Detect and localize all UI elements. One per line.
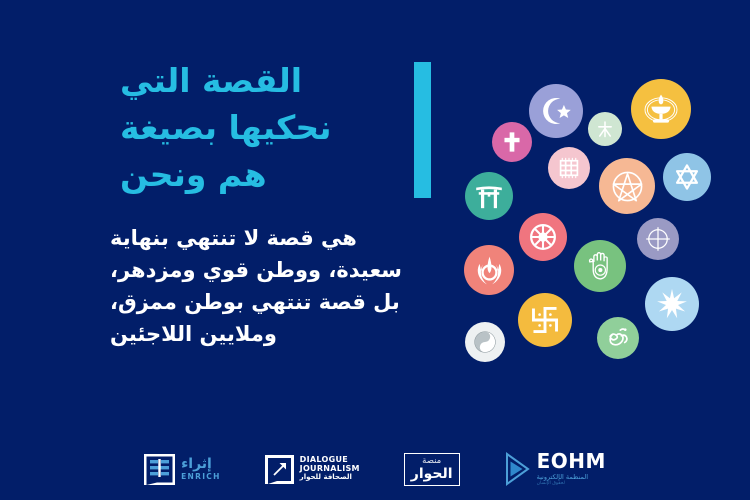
enrich-logo-english: ENRICH xyxy=(181,473,221,481)
enrich-logo: إثراء ENRICH xyxy=(144,449,221,489)
hiwar-platform-logo: منصة الحوار xyxy=(404,449,460,489)
enrich-book-icon xyxy=(144,454,175,485)
dialogue-journalism-text: DIALOGUE JOURNALISM الصحافة للحوار xyxy=(300,456,360,482)
dialogue-journalism-arrow-icon xyxy=(265,455,294,484)
eohm-logo-text: EOHM المنظمة الإلكترونية لحقوق الإنسان xyxy=(537,451,606,486)
om-icon xyxy=(597,317,639,359)
eohm-logo: EOHM المنظمة الإلكترونية لحقوق الإنسان xyxy=(504,449,606,489)
headline-block: القصة التي نحكيها بصيغة هم ونحن xyxy=(120,58,450,199)
eohm-triangle-icon xyxy=(504,452,531,486)
headline-line-2: نحكيها بصيغة xyxy=(120,105,450,152)
dialogue-journalism-line2: JOURNALISM xyxy=(300,465,360,474)
star-and-crescent-icon xyxy=(529,84,583,138)
eohm-logo-arabic-sub: لحقوق الإنسان xyxy=(537,482,565,487)
celtic-cross-icon xyxy=(637,218,679,260)
headline-line-1: القصة التي xyxy=(120,58,450,105)
dialogue-journalism-logo: DIALOGUE JOURNALISM الصحافة للحوار xyxy=(265,449,360,489)
kanji-tree-icon xyxy=(588,112,622,146)
dialogue-journalism-arabic: الصحافة للحوار xyxy=(300,474,352,482)
hiwar-logo-box: منصة الحوار xyxy=(404,453,460,486)
enrich-logo-arabic: إثراء xyxy=(181,457,212,471)
body-line-2: سعيدة، ووطن قوي ومزدهر، xyxy=(110,254,450,286)
star-of-david-icon xyxy=(663,153,711,201)
jain-hand-icon xyxy=(574,240,626,292)
body-line-3: بل قصة تنتهي بوطن ممزق، xyxy=(110,286,450,318)
body-line-4: وملايين اللاجئين xyxy=(110,318,450,350)
footer-logo-strip: EOHM المنظمة الإلكترونية لحقوق الإنسان م… xyxy=(0,438,750,500)
chalice-icon xyxy=(631,79,691,139)
eohm-logo-arabic: المنظمة الإلكترونية xyxy=(537,474,588,481)
grid-symbol-icon xyxy=(548,147,590,189)
shinto-torii-icon xyxy=(465,172,513,220)
khanda-icon xyxy=(464,245,514,295)
religious-symbols-cluster xyxy=(445,0,750,400)
latin-cross-icon xyxy=(492,122,532,162)
swastika-icon xyxy=(518,293,572,347)
poster-canvas: القصة التي نحكيها بصيغة هم ونحن هي قصة ل… xyxy=(0,0,750,500)
hiwar-logo-main-text: الحوار xyxy=(411,467,453,481)
headline-line-3: هم ونحن xyxy=(120,152,450,199)
enrich-logo-text: إثراء ENRICH xyxy=(181,457,221,481)
yin-yang-icon xyxy=(465,322,505,362)
hiwar-logo-top-text: منصة xyxy=(422,457,441,466)
eohm-logo-wordmark: EOHM xyxy=(537,451,606,471)
body-copy-block: هي قصة لا تنتهي بنهاية سعيدة، ووطن قوي و… xyxy=(110,222,450,351)
pentagram-icon xyxy=(599,158,655,214)
dharma-wheel-icon xyxy=(519,213,567,261)
nine-pointed-star-icon xyxy=(645,277,699,331)
body-line-1: هي قصة لا تنتهي بنهاية xyxy=(110,222,450,254)
